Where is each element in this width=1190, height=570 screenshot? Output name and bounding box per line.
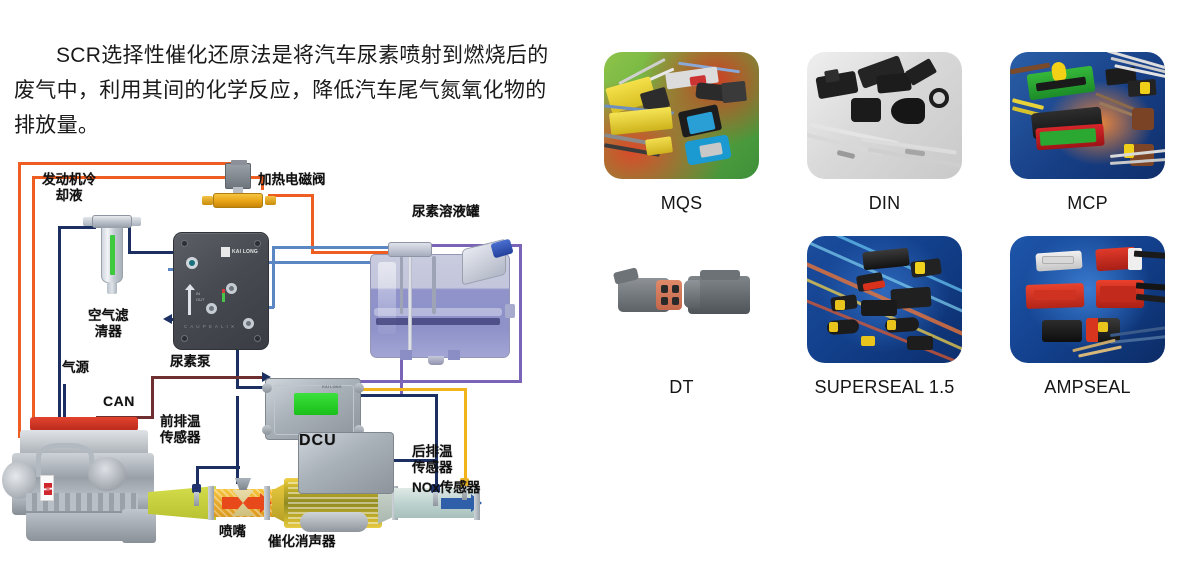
front-sensor-shaft <box>194 492 199 506</box>
connector <box>862 248 910 271</box>
dcu-lug-tl <box>262 383 272 393</box>
connector <box>645 136 673 155</box>
tank-signal-line-to-dcu <box>355 380 522 383</box>
connector <box>721 81 747 103</box>
product-grid: MQS <box>580 52 1190 398</box>
air-line-to-filter-in <box>58 226 96 229</box>
nozzle-body <box>235 478 251 490</box>
mcp-connector-photo[interactable] <box>1010 52 1165 179</box>
dcu-brand-text: KAI LONG <box>322 384 342 389</box>
urea-injector-nozzle <box>232 478 254 518</box>
connector-latch <box>835 300 845 310</box>
label-dcu: DCU <box>298 432 394 494</box>
connector-latch <box>829 322 838 332</box>
valve-port-right <box>265 196 276 205</box>
nozzle-spray-cone <box>232 490 254 516</box>
connector-latch <box>1098 322 1108 332</box>
can-line-to-dcu <box>151 376 268 379</box>
pump-return-port <box>243 318 254 329</box>
product-cell-din[interactable]: DIN <box>783 52 986 214</box>
left-column: SCR选择性催化还原法是将汽车尿素喷射到燃烧后的废气中，利用其间的化学反应，降低… <box>0 0 580 570</box>
dcu-connector-block <box>294 393 338 415</box>
connector-latch <box>915 262 925 274</box>
label-nox-sensor: NOx传感器 <box>412 480 480 496</box>
tank-side-nub <box>505 304 515 318</box>
din-connector-photo[interactable] <box>807 52 962 179</box>
pump-logo-text: KAI LONG <box>232 250 258 255</box>
engine-intake-pipe <box>36 443 94 477</box>
air-filter-drain <box>107 282 117 294</box>
engine-valve-cover <box>30 417 138 431</box>
valve-port-left <box>202 196 213 205</box>
valve-body <box>213 193 263 208</box>
label-front-temp-sensor: 前排温 传感器 <box>160 414 201 446</box>
engine-label-tag <box>40 475 54 501</box>
urea-line-tank-down <box>272 246 275 308</box>
pump-air-inlet-port <box>186 257 198 269</box>
cavity <box>672 285 679 293</box>
tank-bottom-outlet <box>428 356 444 365</box>
tank-signal-line-right <box>519 244 522 382</box>
pump-led-green <box>222 293 225 302</box>
connector <box>861 300 897 316</box>
tank-foot-right <box>448 350 460 360</box>
product-cell-dt[interactable]: DT <box>580 236 783 398</box>
product-cell-mqs[interactable]: MQS <box>580 52 783 214</box>
product-label-dt: DT <box>669 377 693 398</box>
connector <box>905 58 937 86</box>
product-cell-mcp[interactable]: MCP <box>986 52 1189 214</box>
label-heated-solenoid-valve: 加热电磁阀 <box>258 172 326 188</box>
pump-brand-logo: KAI LONG <box>221 247 258 257</box>
connector <box>891 98 925 124</box>
label-rear-temp-sensor: 后排温 传感器 <box>412 444 453 476</box>
connector <box>851 98 881 122</box>
air-filter-indicator <box>110 235 115 275</box>
connector-latch <box>1140 82 1150 94</box>
connector-window <box>1100 286 1136 302</box>
engine-brand-icon <box>44 483 52 495</box>
tank-head-cap <box>388 242 432 257</box>
tank-probe-right <box>432 256 436 314</box>
connector-window <box>1042 256 1074 264</box>
coolant-line-inner-vertical <box>32 176 35 438</box>
product-gallery: MQS <box>580 0 1190 570</box>
product-label-ampseal: AMPSEAL <box>1044 377 1130 398</box>
product-label-mcp: MCP <box>1067 193 1108 214</box>
tank-rib-light <box>374 308 502 316</box>
label-engine-coolant: 发动机冷 却液 <box>42 172 96 204</box>
nox-line-horizontal <box>355 388 467 391</box>
air-filter-component <box>92 215 132 297</box>
terminal <box>861 336 875 346</box>
urea-pump-component: KAI LONG INOUT C A U P E A L I X <box>173 232 269 350</box>
coolant-line-outer-vertical <box>18 162 21 438</box>
solenoid-coil <box>225 163 251 189</box>
connector <box>929 88 949 108</box>
front-temp-sensor-line-horiz <box>196 466 240 469</box>
tank-foot-left <box>400 350 412 360</box>
connector-latch <box>887 320 896 330</box>
pump-logo-mark-icon <box>221 247 230 257</box>
terminal <box>837 150 856 159</box>
connector-window <box>1034 290 1076 300</box>
muffler-internal-tube <box>300 512 368 532</box>
intro-paragraph: SCR选择性催化还原法是将汽车尿素喷射到燃烧后的废气中，利用其间的化学反应，降低… <box>14 38 562 143</box>
tank-probe-left <box>400 256 403 314</box>
product-label-superseal: SUPERSEAL 1.5 <box>815 377 955 398</box>
pump-model-text: C A U P E A L I X <box>184 324 235 329</box>
tank-rib-dark <box>376 318 500 325</box>
connector <box>1042 320 1082 342</box>
connector <box>824 69 840 83</box>
product-cell-superseal[interactable]: SUPERSEAL 1.5 <box>783 236 986 398</box>
dcu-lug-bl <box>262 425 272 435</box>
cavity <box>672 297 679 305</box>
front-temp-sensor-line-vert <box>236 396 239 484</box>
product-label-mqs: MQS <box>661 193 703 214</box>
product-label-din: DIN <box>869 193 901 214</box>
connector <box>1086 318 1098 342</box>
pump-urea-outlet-port <box>206 303 217 314</box>
pump-screw-bl <box>181 335 188 342</box>
pump-screw-tl <box>181 240 188 247</box>
tank-level-sensor <box>408 250 412 354</box>
exhaust-flange-b <box>264 486 270 520</box>
connector <box>907 336 933 350</box>
label-air-source: 气源 <box>62 360 89 376</box>
product-cell-ampseal[interactable]: AMPSEAL <box>986 236 1189 398</box>
pump-screw-br <box>254 335 261 342</box>
label-nozzle: 喷嘴 <box>219 524 246 540</box>
nox-line-vertical <box>464 388 467 488</box>
can-line-vertical <box>151 376 154 418</box>
dcu-component: KAI LONG <box>265 378 361 440</box>
pump-urea-inlet-port <box>226 283 237 294</box>
label-can-bus: CAN <box>103 393 135 409</box>
exhaust-flange-a <box>208 486 214 520</box>
mqs-connector-photo[interactable] <box>604 52 759 179</box>
front-temp-sensor-drop <box>196 466 199 486</box>
cavity <box>661 285 668 293</box>
engine-pulley <box>88 457 126 491</box>
label-air-filter: 空气滤 清器 <box>88 308 129 340</box>
urea-tank-component <box>370 242 510 368</box>
label-urea-tank: 尿素溶液罐 <box>412 204 480 220</box>
ampseal-connector-photo[interactable] <box>1010 236 1165 363</box>
connector-male-nose <box>684 280 700 308</box>
connector-rail <box>700 270 740 280</box>
dcu-lug-tr <box>354 383 364 393</box>
pump-screw-tr <box>254 240 261 247</box>
dt-connector-photo[interactable] <box>604 236 759 363</box>
engine-component <box>2 413 170 558</box>
pump-micro-text: INOUT <box>196 291 204 303</box>
pump-inlet-arrow-icon <box>163 314 172 324</box>
pump-flow-arrow-icon <box>188 289 191 315</box>
front-exhaust-temp-sensor <box>192 484 201 506</box>
slide-root: SCR选择性催化还原法是将汽车尿素喷射到燃烧后的废气中，利用其间的化学反应，降低… <box>0 0 1190 570</box>
label-urea-pump: 尿素泵 <box>170 354 211 370</box>
coolant-line-down-to-tank <box>311 194 314 254</box>
connector <box>1132 108 1154 130</box>
cavity <box>661 297 668 305</box>
superseal-connector-photo[interactable] <box>807 236 962 363</box>
label-catalytic-muffler: 催化消声器 <box>268 534 336 550</box>
scr-system-diagram: KAI LONG INOUT C A U P E A L I X <box>0 148 580 560</box>
